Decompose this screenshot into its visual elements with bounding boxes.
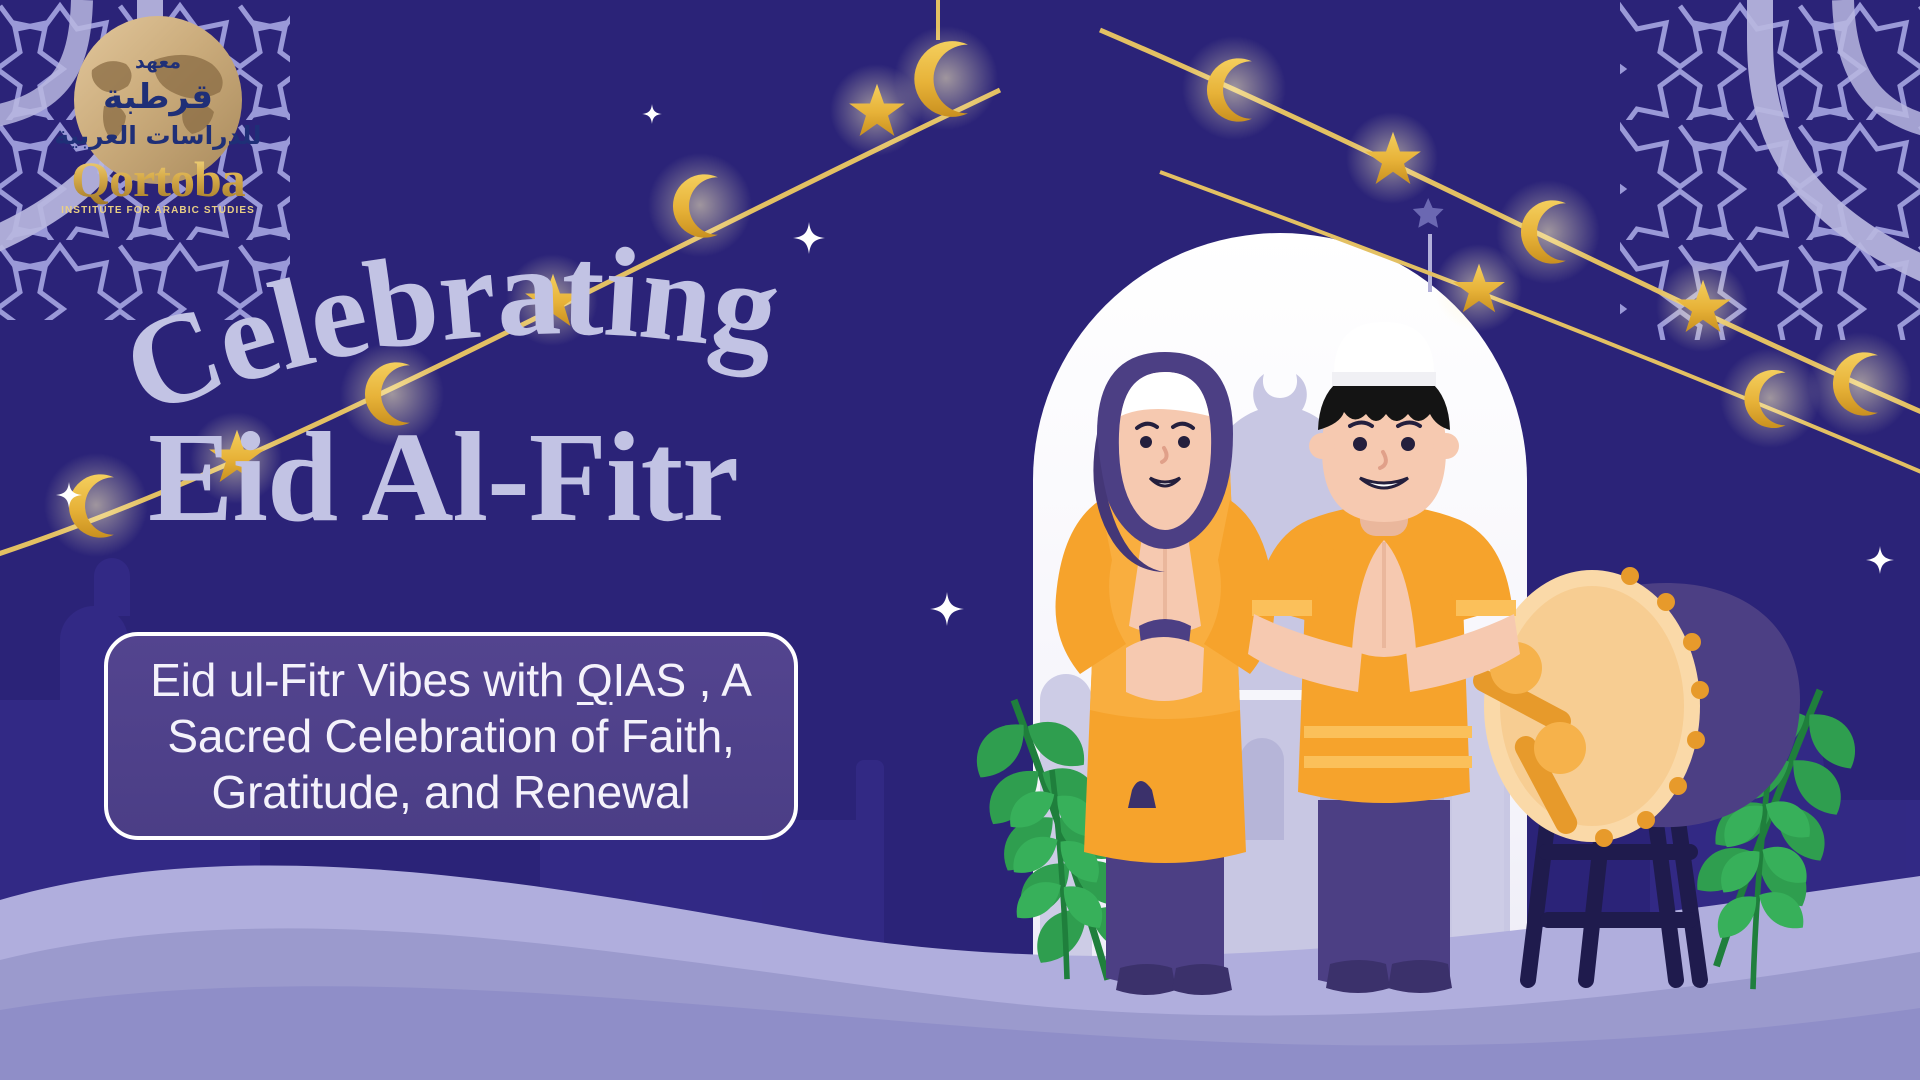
subtitle-callout-box: Eid ul-Fitr Vibes with QIAS , A Sacred C…	[104, 632, 798, 840]
subtitle-text: Eid ul-Fitr Vibes with QIAS , A Sacred C…	[108, 652, 794, 820]
subtitle-before-brand: Eid ul-Fitr Vibes with	[150, 654, 577, 706]
brand-rest: IAS	[612, 654, 686, 706]
eid-poster: معهد قرطبة للدراسات العربية Qortoba INST…	[0, 0, 1920, 1080]
logo-wordmark: Qortoba	[71, 151, 246, 207]
poster-artwork	[0, 0, 1920, 1080]
brand-initial: Q	[577, 654, 613, 706]
logo-arabic-line-2: قرطبة	[103, 77, 213, 117]
qortoba-institute-logo[interactable]: معهد قرطبة للدراسات العربية Qortoba INST…	[34, 8, 284, 228]
logo-arabic-line-1: معهد	[135, 51, 181, 73]
logo-tagline: INSTITUTE FOR ARABIC STUDIES	[61, 205, 255, 216]
logo-arabic-line-3: للدراسات العربية	[54, 121, 261, 151]
